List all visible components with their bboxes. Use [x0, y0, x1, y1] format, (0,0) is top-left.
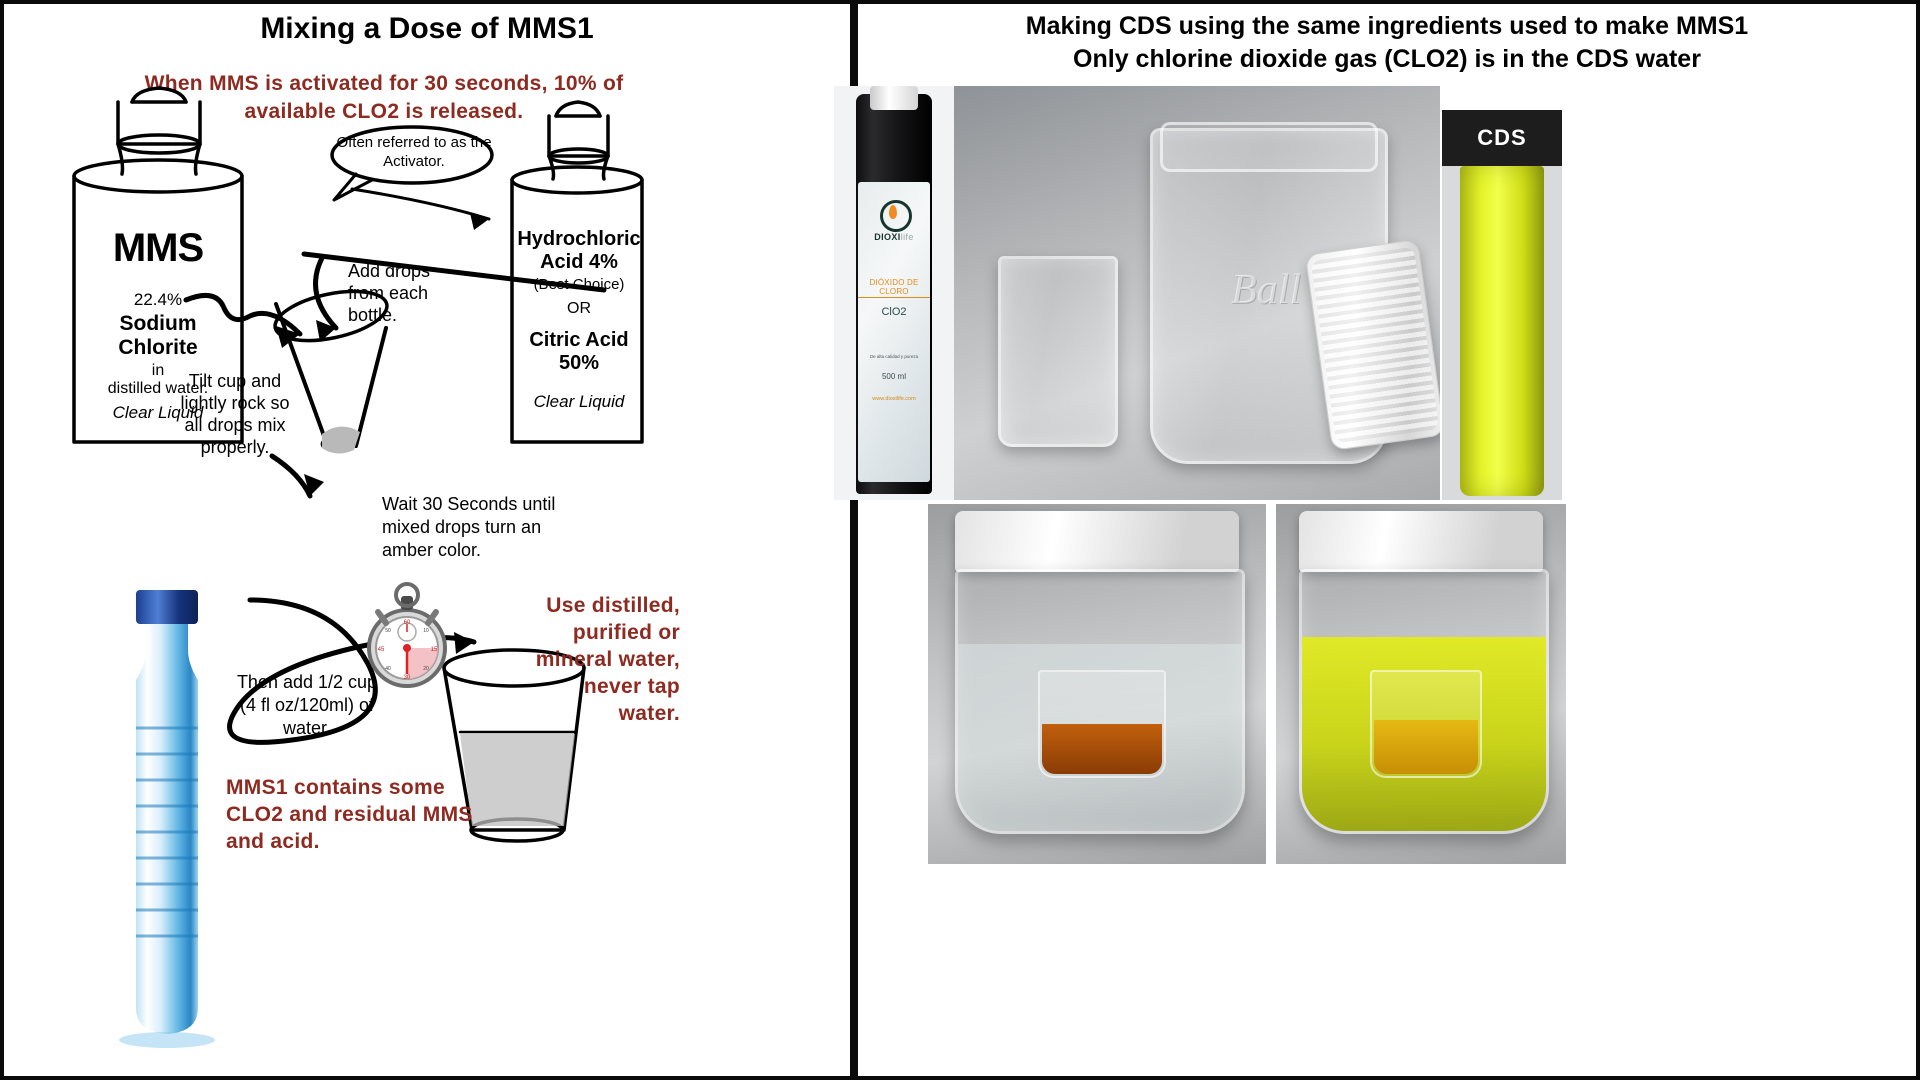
- droplet-icon: [889, 205, 897, 219]
- cds-tube-photo: CDS: [1442, 110, 1562, 500]
- cds-label-text: CDS: [1442, 110, 1562, 166]
- right-title-line2: Only chlorine dioxide gas (CLO2) is in t…: [858, 43, 1916, 76]
- water-bottle-photo: [92, 588, 242, 1048]
- acid-bottle-name: Hydrochloric Acid 4%: [514, 228, 644, 274]
- note-use-distilled: Use distilled, purified or mineral water…: [520, 592, 680, 727]
- inner-cup: [1370, 670, 1481, 778]
- right-title-line1: Making CDS using the same ingredients us…: [858, 10, 1916, 43]
- dioxilife-bottle-photo: DIOXIlife DIÓXIDO DE CLORO ClO2 De alta …: [834, 86, 954, 500]
- jar-and-glass-photo: Ball: [954, 86, 1440, 500]
- cds-liquid-tube: [1460, 166, 1544, 496]
- mms-percent: 22.4%: [78, 290, 238, 310]
- svg-text:50: 50: [385, 628, 391, 634]
- svg-text:20: 20: [423, 666, 429, 672]
- svg-text:15: 15: [431, 647, 438, 653]
- mms-bottle-name: MMS: [78, 226, 238, 271]
- jar-body: [955, 569, 1245, 834]
- step-wait-30s: Wait 30 Seconds until mixed drops turn a…: [382, 493, 562, 562]
- jar-lid: [955, 511, 1239, 572]
- svg-text:40: 40: [385, 666, 391, 672]
- yellow-liquid: [1374, 720, 1477, 774]
- amber-liquid: [1042, 724, 1163, 774]
- jar-body: [1299, 569, 1549, 834]
- dioxilife-spanish-name: DIÓXIDO DE CLORO: [858, 278, 930, 298]
- step-add-drops: Add drops from each bottle.: [348, 260, 458, 326]
- brand-light: life: [901, 232, 914, 242]
- svg-text:10: 10: [423, 628, 429, 634]
- right-panel-title: Making CDS using the same ingredients us…: [858, 10, 1916, 76]
- cds-label-banner: CDS: [1442, 110, 1562, 166]
- acid-or-word: OR: [514, 300, 644, 318]
- svg-text:60: 60: [404, 620, 411, 626]
- mms-chemical: Sodium Chlorite: [78, 312, 238, 360]
- dioxilife-volume: 500 ml: [858, 372, 930, 381]
- acid-best-choice: (Best Choice): [514, 276, 644, 293]
- infographic-root: Mixing a Dose of MMS1 When MMS is activa…: [0, 0, 1920, 1080]
- jar-neck-threads: [1160, 122, 1378, 172]
- drinking-glass: [998, 256, 1118, 447]
- svg-text:30: 30: [404, 675, 411, 681]
- dioxilife-label: DIOXIlife DIÓXIDO DE CLORO ClO2 De alta …: [858, 182, 930, 482]
- left-panel: Mixing a Dose of MMS1 When MMS is activa…: [4, 4, 850, 1076]
- step-tilt-cup: Tilt cup and lightly rock so all drops m…: [180, 370, 290, 458]
- dioxilife-url: www.dioxilife.com: [858, 396, 930, 402]
- dioxilife-tagline: De alta calidad y pureza: [858, 354, 930, 359]
- jar-lid: [1299, 511, 1543, 572]
- callout-activator: Often referred to as the Activator.: [334, 133, 494, 171]
- dioxilife-brand: DIOXIlife: [858, 232, 930, 242]
- svg-text:45: 45: [378, 647, 385, 653]
- acid-state: Clear Liquid: [514, 391, 644, 412]
- dioxilife-bottle-cap: [870, 86, 918, 110]
- inner-cup: [1038, 670, 1167, 778]
- note-mms1-contains: MMS1 contains some CLO2 and residual MMS…: [226, 774, 496, 855]
- dioxilife-formula: ClO2: [858, 306, 930, 318]
- acid-alternative: Citric Acid 50%: [514, 329, 644, 375]
- brand-bold: DIOXI: [874, 232, 901, 242]
- stopwatch-icon: 60 15 30 45 10 50 20 40: [360, 582, 454, 692]
- amber-jar-photo: [928, 504, 1266, 864]
- lid-ridges: [1311, 247, 1440, 444]
- yellow-jar-photo: [1276, 504, 1566, 864]
